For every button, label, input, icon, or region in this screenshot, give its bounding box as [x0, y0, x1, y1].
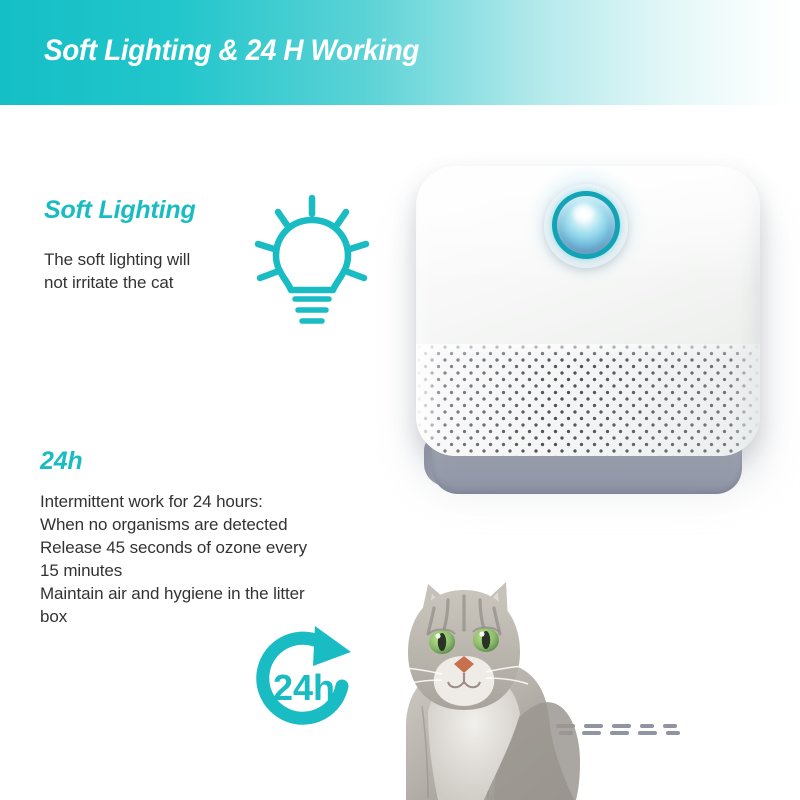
twenty-four-hour-heading: 24h: [40, 449, 82, 474]
page-title: Soft Lighting & 24 H Working: [44, 36, 419, 66]
vent-slot: [638, 731, 657, 735]
24h-cycle-icon: 24h: [243, 622, 368, 744]
soft-lighting-description: The soft lighting will not irritate the …: [44, 248, 274, 294]
soft-lighting-heading: Soft Lighting: [44, 198, 196, 223]
grille-sheen: [416, 344, 760, 456]
light-bulb-icon: [252, 192, 372, 337]
grille-left-shade: [416, 344, 442, 456]
24h-icon-label: 24h: [273, 667, 335, 708]
grille-right-shade: [730, 344, 760, 456]
indicator-highlight: [572, 204, 594, 222]
vent-slot: [663, 724, 677, 728]
cat-photo: [398, 576, 628, 800]
ozone-deodorizer-device: [404, 160, 776, 510]
vent-slot: [640, 724, 654, 728]
twenty-four-hour-description: Intermittent work for 24 hours: When no …: [40, 490, 390, 628]
header-banner: Soft Lighting & 24 H Working: [0, 0, 800, 105]
vent-slot: [666, 731, 680, 735]
device-perforated-grille: [416, 344, 760, 456]
